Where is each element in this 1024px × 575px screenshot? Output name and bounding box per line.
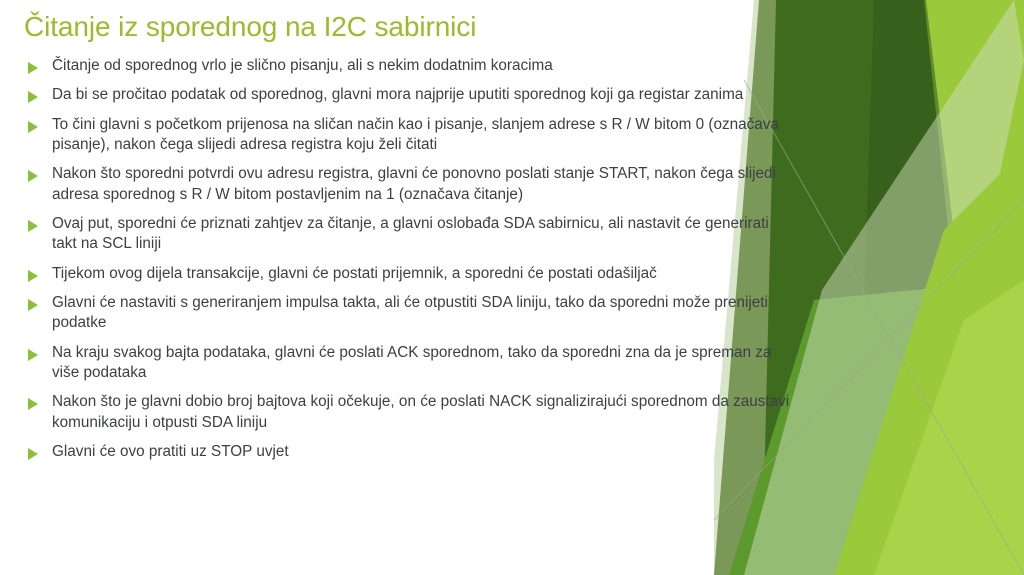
triangle-right-icon xyxy=(28,264,52,282)
bullet-text: Nakon što je glavni dobio broj bajtova k… xyxy=(52,392,790,433)
content-placeholder[interactable]: Čitanje od sporednog vrlo je slično pisa… xyxy=(28,56,800,472)
bullet-text: To čini glavni s početkom prijenosa na s… xyxy=(52,115,790,156)
bullet-item: Nakon što je glavni dobio broj bajtova k… xyxy=(28,392,800,433)
decor-shape-dark-overlay xyxy=(864,0,962,300)
bullet-text: Tijekom ovog dijela transakcije, glavni … xyxy=(52,264,790,284)
triangle-right-icon xyxy=(28,392,52,410)
triangle-right-icon xyxy=(28,442,52,460)
bullet-text: Nakon što sporedni potvrdi ovu adresu re… xyxy=(52,164,790,205)
bullet-text: Glavni će nastaviti s generiranjem impul… xyxy=(52,293,790,334)
triangle-right-icon xyxy=(28,56,52,74)
bullet-text: Na kraju svakog bajta podataka, glavni ć… xyxy=(52,343,790,384)
triangle-right-icon xyxy=(28,293,52,311)
title-placeholder[interactable]: Čitanje iz sporednog na I2C sabirnici xyxy=(24,4,784,50)
bullet-item: Da bi se pročitao podatak od sporednog, … xyxy=(28,85,800,105)
bullet-text: Ovaj put, sporedni će priznati zahtjev z… xyxy=(52,214,790,255)
bullet-item: Glavni će ovo pratiti uz STOP uvjet xyxy=(28,442,800,462)
decor-shape-bright-lower xyxy=(834,150,1024,575)
bullet-item: Ovaj put, sporedni će priznati zahtjev z… xyxy=(28,214,800,255)
presentation-slide: Čitanje iz sporednog na I2C sabirnici Či… xyxy=(0,0,1024,575)
bullet-item: Nakon što sporedni potvrdi ovu adresu re… xyxy=(28,164,800,205)
bullet-text: Glavni će ovo pratiti uz STOP uvjet xyxy=(52,442,790,462)
triangle-right-icon xyxy=(28,85,52,103)
bullet-item: Glavni će nastaviti s generiranjem impul… xyxy=(28,293,800,334)
decor-shape-bright-right xyxy=(864,0,1024,575)
bullet-item: Čitanje od sporednog vrlo je slično pisa… xyxy=(28,56,800,76)
triangle-right-icon xyxy=(28,343,52,361)
triangle-right-icon xyxy=(28,164,52,182)
bullet-item: To čini glavni s početkom prijenosa na s… xyxy=(28,115,800,156)
triangle-right-icon xyxy=(28,115,52,133)
decor-shape-lightest-bottom xyxy=(874,280,1024,575)
triangle-right-icon xyxy=(28,214,52,232)
slide-title: Čitanje iz sporednog na I2C sabirnici xyxy=(24,12,476,43)
bullet-text: Da bi se pročitao podatak od sporednog, … xyxy=(52,85,790,105)
bullet-item: Na kraju svakog bajta podataka, glavni ć… xyxy=(28,343,800,384)
bullet-item: Tijekom ovog dijela transakcije, glavni … xyxy=(28,264,800,284)
left-edge-accent xyxy=(0,0,7,575)
bullet-text: Čitanje od sporednog vrlo je slično pisa… xyxy=(52,56,790,76)
